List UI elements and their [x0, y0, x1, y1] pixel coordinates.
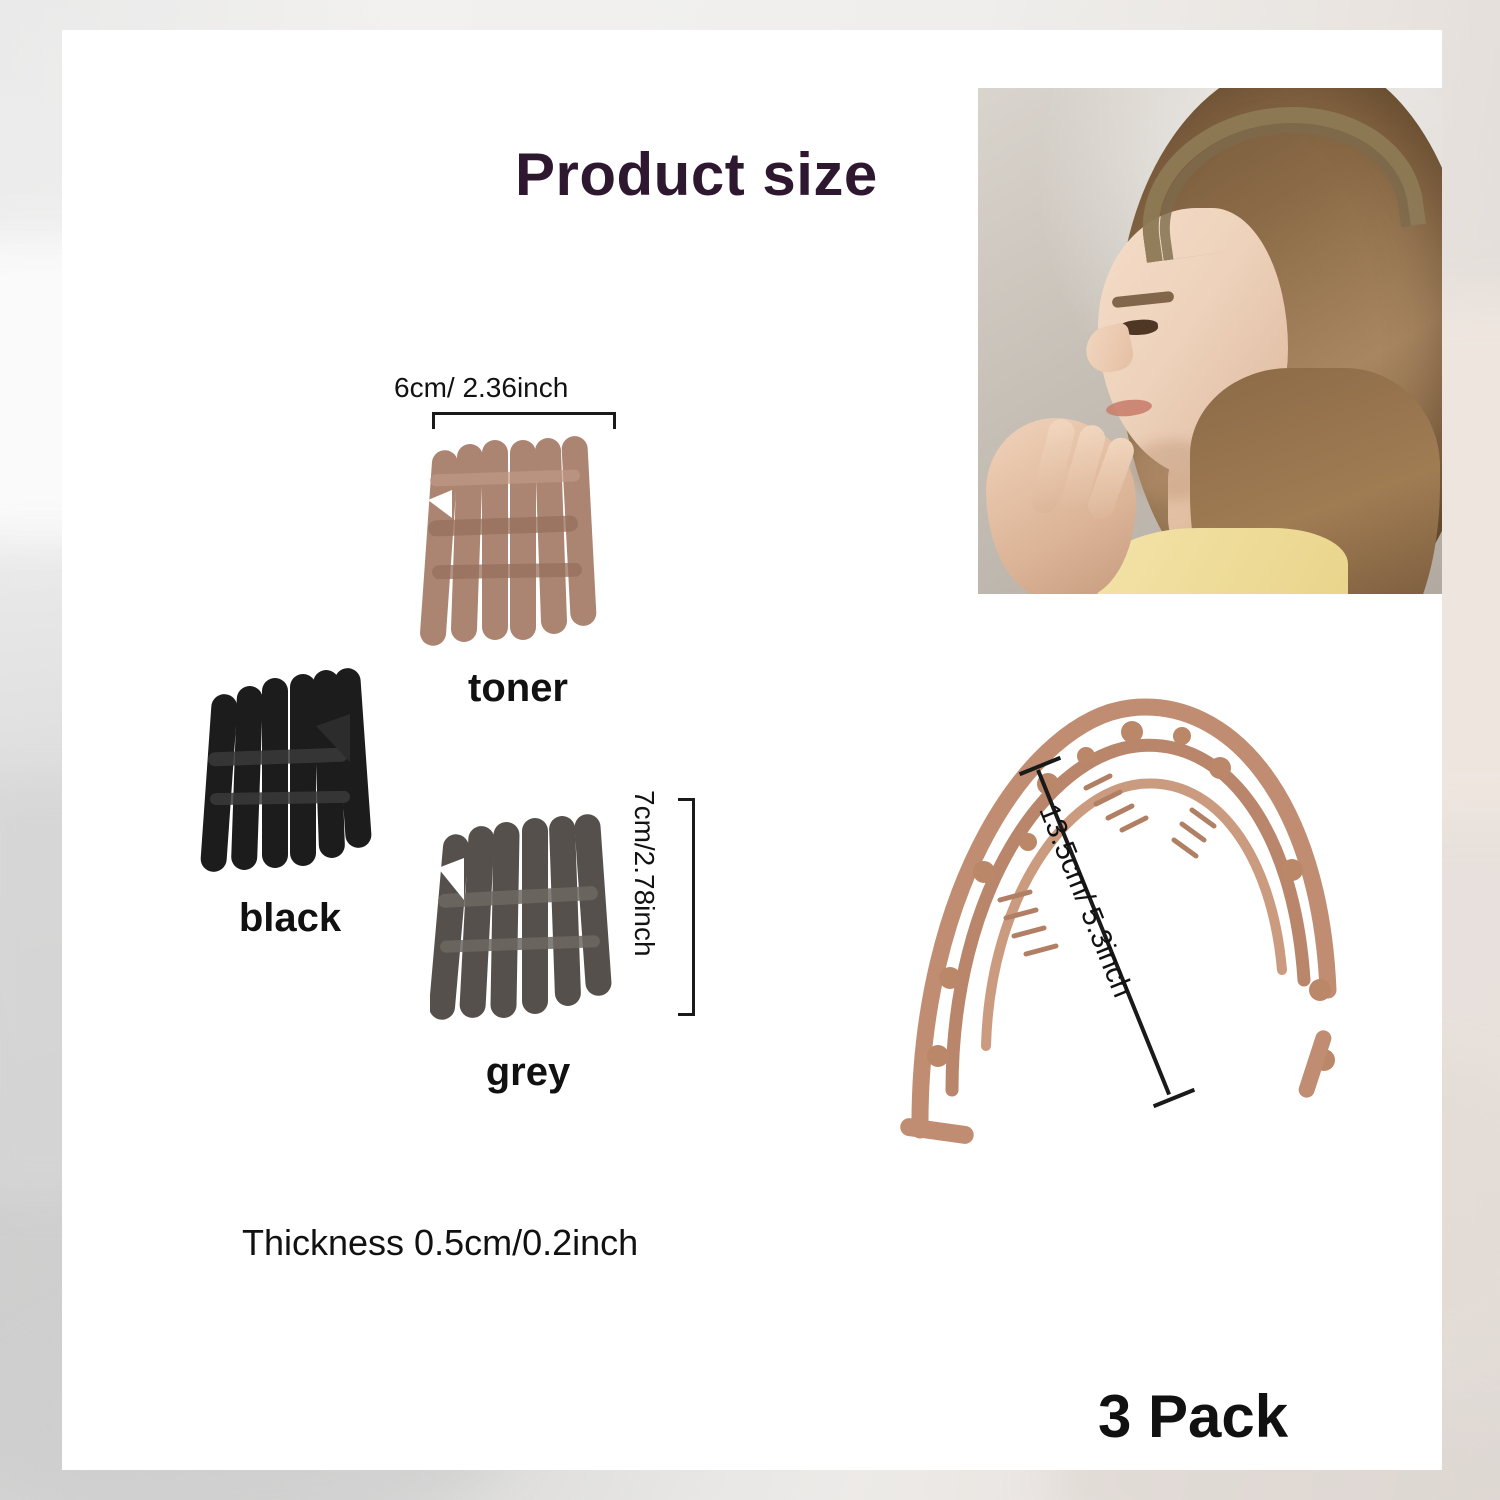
product-grey: [430, 812, 626, 1024]
width-dimension-label: 6cm/ 2.36inch: [394, 372, 568, 404]
shirt: [1098, 528, 1348, 594]
height-dimension-label: 7cm/2.78inch: [628, 790, 660, 1040]
thickness-label: Thickness 0.5cm/0.2inch: [242, 1222, 638, 1264]
grey-clip-illustration: [430, 812, 626, 1024]
headband-illustration: [880, 660, 1360, 1180]
product-label-toner: toner: [418, 666, 618, 711]
product-label-black: black: [190, 896, 390, 941]
product-black: [200, 666, 378, 876]
product-label-grey: grey: [428, 1050, 628, 1095]
width-dimension-bracket: [432, 412, 616, 429]
product-toner: [418, 432, 618, 652]
pack-count-label: 3 Pack: [1098, 1382, 1288, 1451]
headband-photo: [880, 660, 1360, 1180]
model-photo: [978, 88, 1442, 594]
height-dimension-bracket: [678, 798, 695, 1016]
product-size-infographic: Product size 6cm/ 2.36inch: [0, 0, 1500, 1500]
toner-clip-illustration: [418, 432, 618, 652]
page-title: Product size: [515, 140, 878, 209]
black-clip-illustration: [200, 666, 378, 876]
